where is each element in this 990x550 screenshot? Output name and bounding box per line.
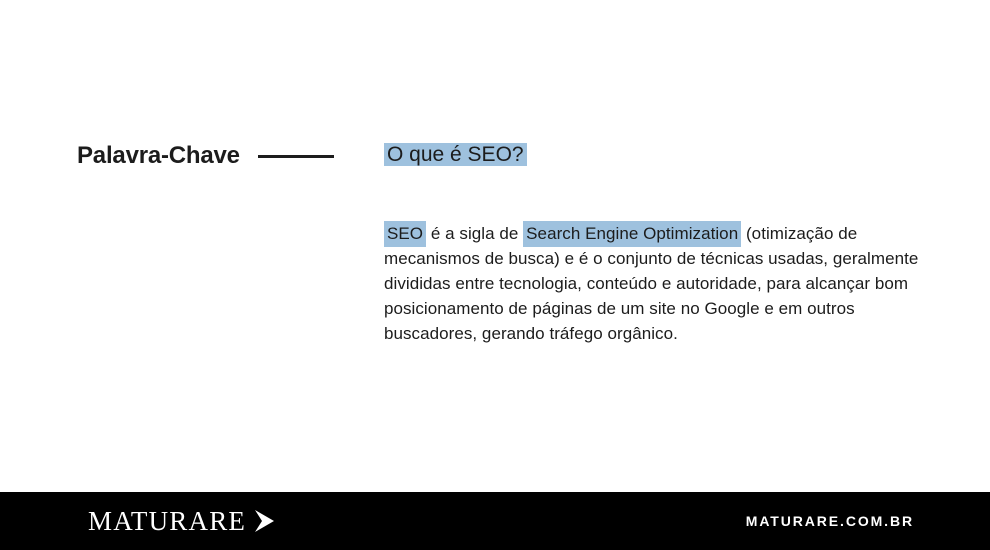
headline-text: O que é SEO?	[384, 143, 527, 166]
keyword-label: Palavra-Chave	[77, 144, 240, 168]
slide-canvas: Palavra-Chave O que é SEO? SEO é a sigla…	[0, 0, 990, 550]
body-segment-mid: é a sigla de	[426, 224, 523, 243]
headline-wrap: O que é SEO?	[384, 141, 527, 169]
arrow-chevron-icon	[253, 509, 275, 533]
highlight-expansion: Search Engine Optimization	[523, 221, 741, 247]
footer-logo[interactable]: MATURARE	[88, 508, 275, 535]
keyword-row: Palavra-Chave	[77, 140, 343, 172]
connector-line	[258, 155, 334, 158]
footer-logo-text: MATURARE	[88, 508, 246, 535]
body-wrap: SEO é a sigla de Search Engine Optimizat…	[384, 204, 924, 363]
footer-bar: MATURARE MATURARE.COM.BR	[0, 492, 990, 550]
highlight-acronym: SEO	[384, 221, 426, 247]
body-paragraph: SEO é a sigla de Search Engine Optimizat…	[384, 221, 924, 346]
footer-url[interactable]: MATURARE.COM.BR	[746, 514, 914, 528]
